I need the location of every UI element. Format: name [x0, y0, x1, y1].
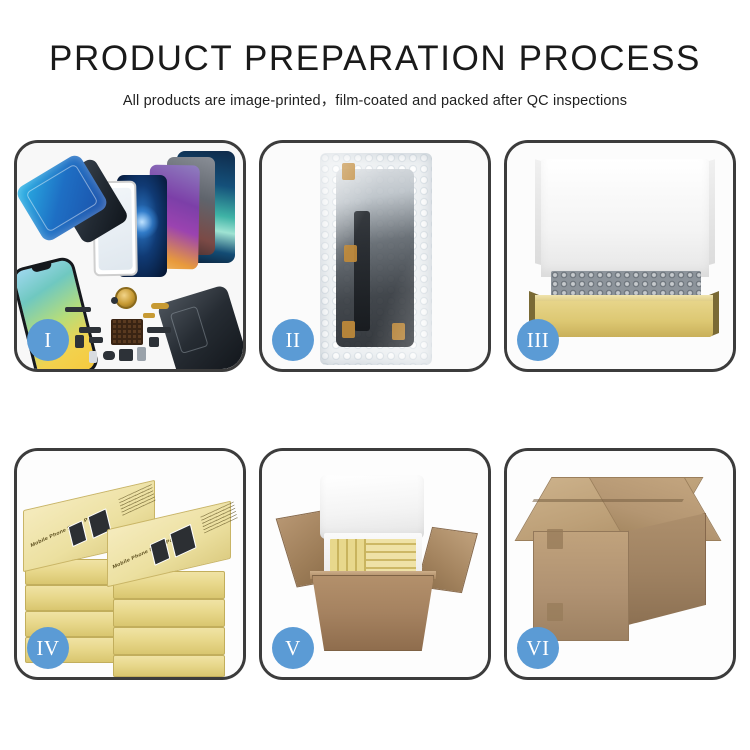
part-camera-icon: [119, 349, 133, 361]
process-step-grid: I II: [14, 140, 736, 680]
chip-grid-icon: [111, 319, 143, 345]
carton-tape-upper-icon: [547, 529, 563, 549]
part-strip-icon: [65, 307, 91, 312]
process-step-panel-3[interactable]: III: [504, 140, 736, 372]
carton-body-icon: [312, 575, 434, 651]
step-badge-1: I: [27, 319, 69, 361]
yellow-box-front-icon: [535, 301, 713, 337]
process-step-panel-2[interactable]: II: [259, 140, 491, 372]
part-gold2-icon: [143, 313, 155, 318]
part-screw-icon: [111, 297, 118, 304]
part-round-icon: [103, 351, 115, 360]
part-bar-icon: [89, 337, 103, 343]
page-subtitle: All products are image-printed，film-coat…: [0, 89, 750, 110]
stacked-box-icon: [25, 585, 121, 611]
process-step-panel-4[interactable]: Mobile Phone Spare Parts Mobile Phone Sp…: [14, 448, 246, 680]
part-light-icon: [89, 351, 97, 363]
packed-yellow-boxes-secondary-icon: [366, 539, 416, 575]
process-step-panel-6[interactable]: VI: [504, 448, 736, 680]
part-square-icon: [149, 337, 159, 347]
stacked-box-icon: [113, 599, 225, 627]
product-preparation-infographic: PRODUCT PREPARATION PROCESS All products…: [0, 0, 750, 750]
stacked-box-icon: [113, 627, 225, 655]
process-step-panel-1[interactable]: I: [14, 140, 246, 372]
speaker-coil-icon: [115, 287, 137, 309]
step-badge-2: II: [272, 319, 314, 361]
foam-lid-icon: [541, 159, 709, 277]
part-silver-icon: [137, 347, 146, 361]
page-title: PRODUCT PREPARATION PROCESS: [0, 38, 750, 80]
process-step-panel-5[interactable]: V: [259, 448, 491, 680]
part-block-icon: [75, 335, 84, 348]
part-gold-icon: [151, 303, 169, 309]
step-badge-5: V: [272, 627, 314, 669]
carton-seam-icon: [532, 499, 684, 502]
part-flex-icon: [79, 327, 101, 333]
spare-parts-cluster: [69, 293, 189, 371]
step-badge-4: IV: [27, 627, 69, 669]
box-thumbnail-icon: [169, 524, 196, 558]
wrap-gloss-overlay: [320, 153, 432, 365]
header: PRODUCT PREPARATION PROCESS All products…: [0, 38, 750, 110]
bubble-wrap-icon: [320, 153, 432, 365]
step-badge-3: III: [517, 319, 559, 361]
box-spec-lines-icon: [200, 502, 237, 534]
stacked-box-icon: [113, 655, 225, 677]
step-badge-6: VI: [517, 627, 559, 669]
styrofoam-lid-icon: [320, 475, 424, 539]
box-spec-lines-icon: [118, 484, 155, 516]
carton-tape-lower-icon: [547, 603, 563, 621]
part-cable-icon: [147, 327, 171, 333]
